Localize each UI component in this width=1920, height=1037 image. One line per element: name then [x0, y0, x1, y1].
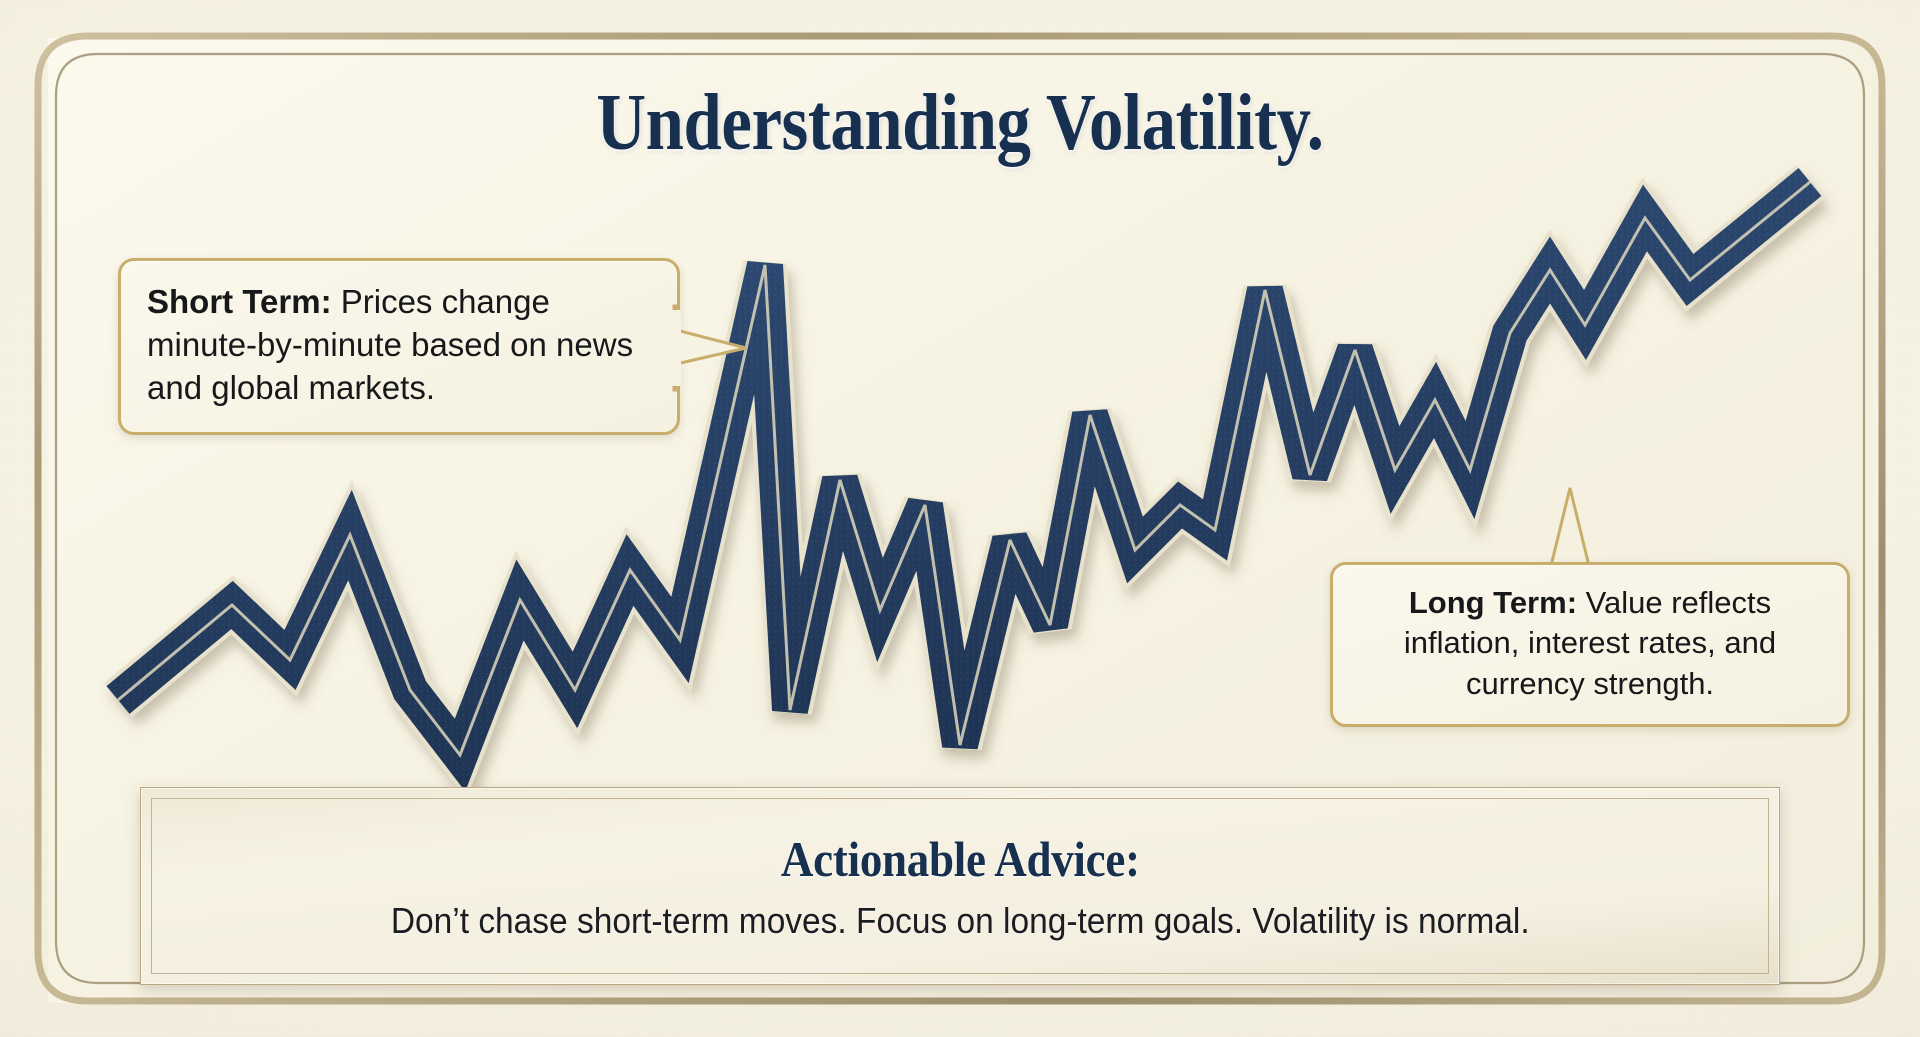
callout-short-term-label: Short Term: [147, 283, 332, 320]
callout-long-term-label: Long Term: [1409, 585, 1577, 620]
actionable-advice-banner: Actionable Advice: Don’t chase short-ter… [140, 787, 1780, 985]
advice-title: Actionable Advice: [781, 830, 1140, 888]
poster-canvas: Understanding Volatility. [0, 0, 1920, 1037]
advice-body: Don’t chase short-term moves. Focus on l… [391, 900, 1530, 942]
callout-short-term[interactable]: Short Term: Prices change minute-by-minu… [118, 258, 680, 435]
callout-long-term[interactable]: Long Term: Value reflects inflation, int… [1330, 562, 1850, 727]
